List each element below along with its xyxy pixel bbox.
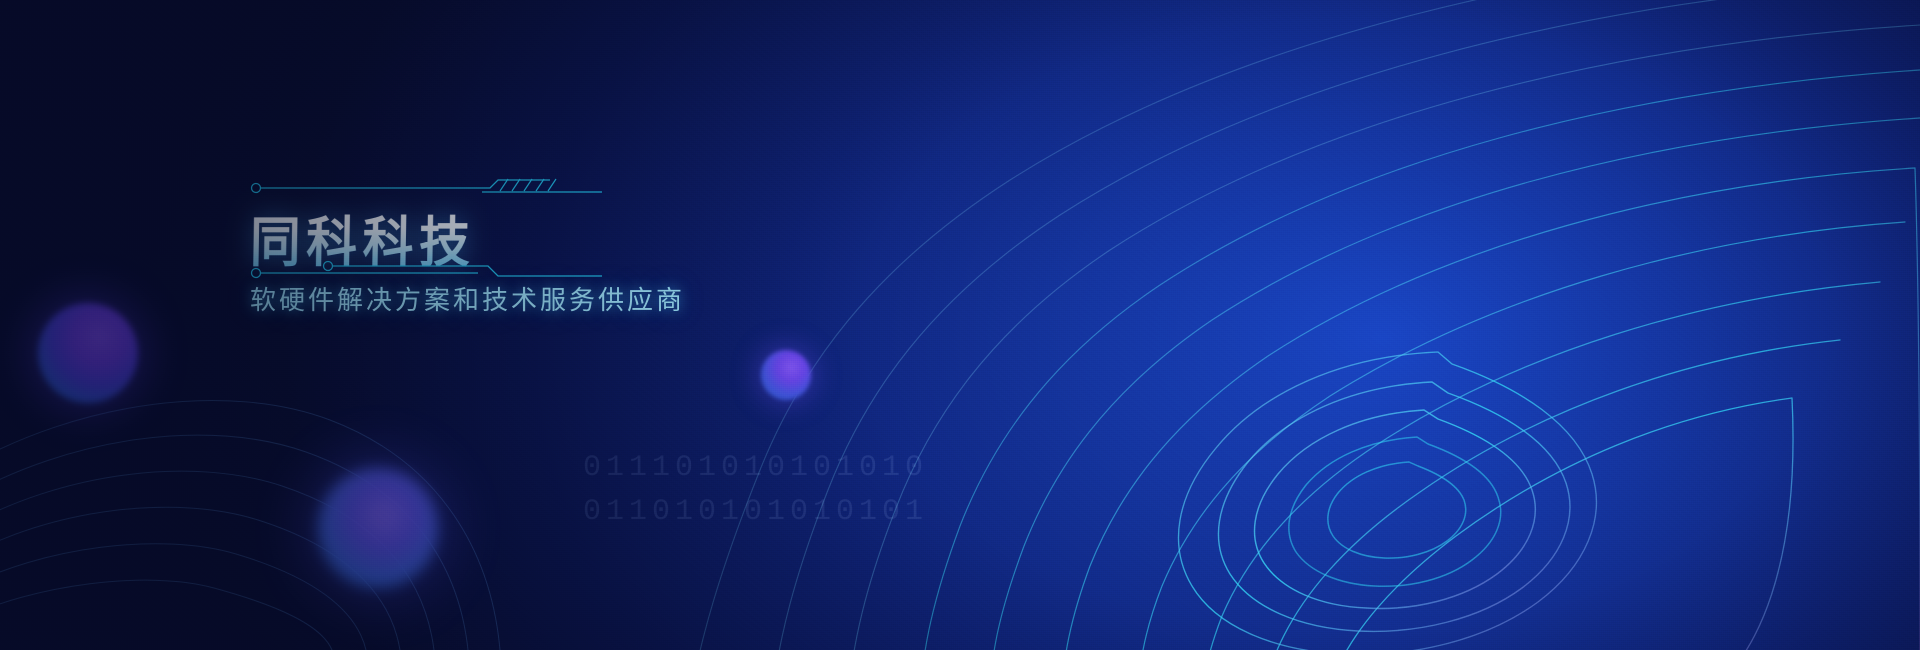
vignette-overlay [0,0,1920,650]
page-title: 同科科技 [250,198,870,260]
topographic-contour-pattern-left [0,0,1920,650]
binary-line-1: 011101010101010 [583,451,928,485]
circuit-line-bottom [250,260,870,280]
hero-text-block: 同科科技 软硬件解决方案和技术服务供应商 [250,178,870,317]
hero-banner: 011101010101010 011010101010101 同科科技 [0,0,1920,650]
circuit-node-icon [252,184,261,193]
page-subtitle: 软硬件解决方案和技术服务供应商 [250,280,870,317]
orb-small [761,350,811,400]
topographic-contour-pattern [0,0,1920,650]
circuit-node-icon-left [252,269,261,278]
circuit-line-top [250,178,870,198]
binary-line-2: 011010101010101 [583,495,928,529]
noise-overlay [0,0,1920,650]
circuit-node-icon-mid [324,262,333,271]
orb-large [38,303,138,403]
orb-bottom [318,468,438,588]
binary-decoration-text: 011101010101010 011010101010101 [583,446,928,534]
